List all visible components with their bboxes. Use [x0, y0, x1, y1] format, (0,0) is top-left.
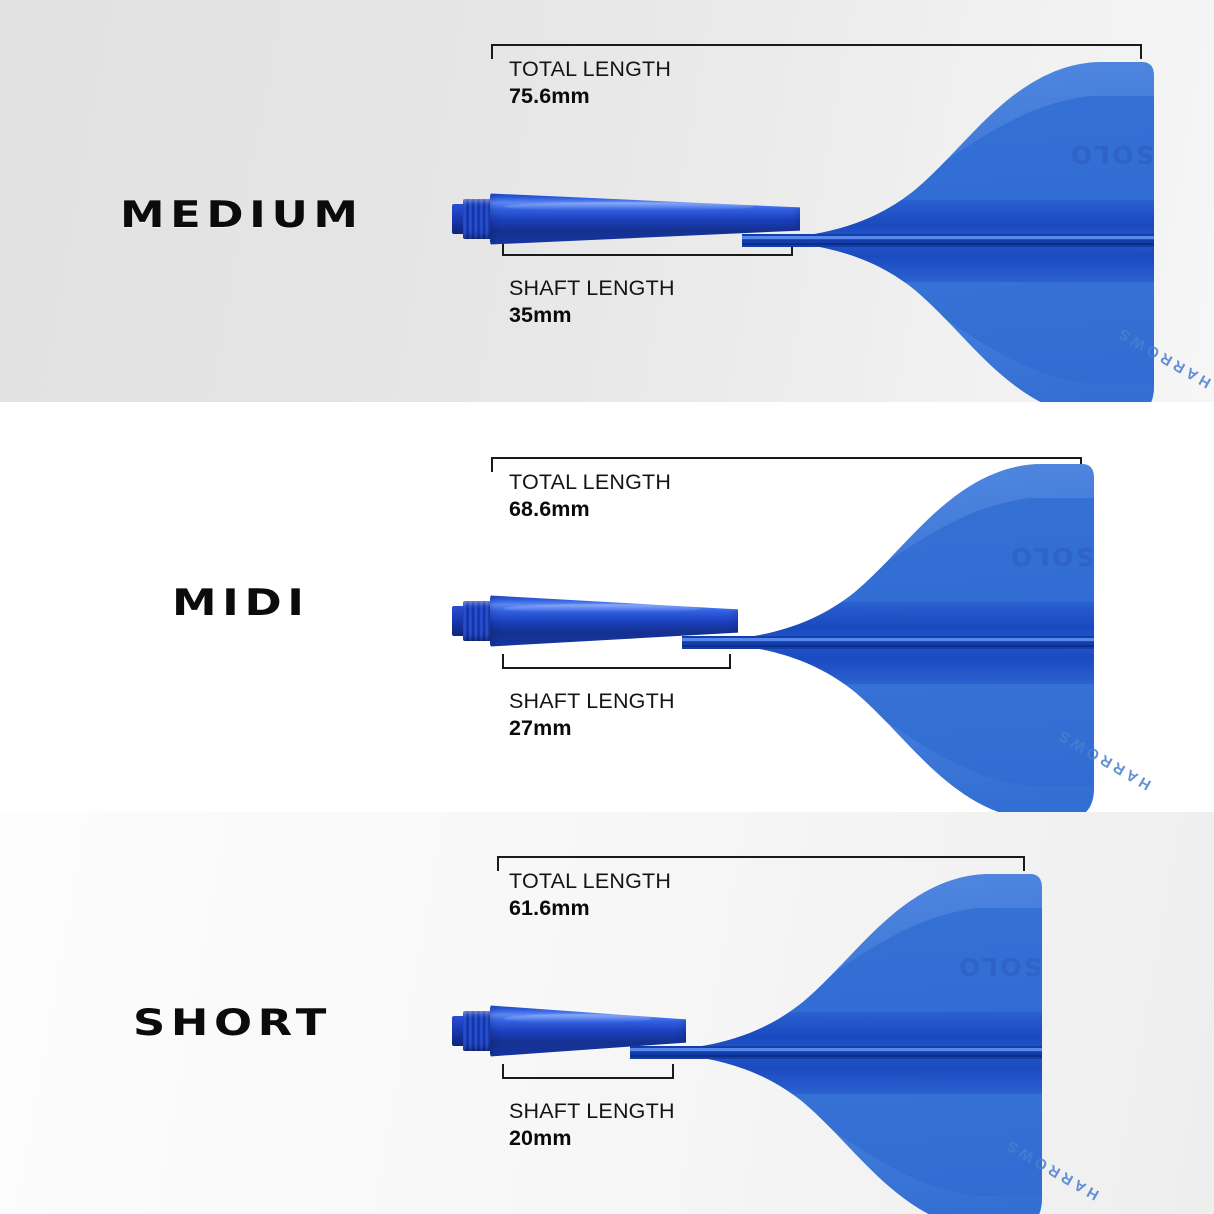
- panel-short: SHORT TOTAL LENGTH 61.6mm SHAFT LENGTH 2…: [0, 812, 1214, 1214]
- shaft-thread-medium: [463, 199, 491, 239]
- dart-assembly-medium: SOLO HARROWS: [450, 120, 1170, 370]
- dart-spec-sheet: MEDIUM TOTAL LENGTH 75.6mm SHAFT LENGTH …: [0, 0, 1214, 1214]
- shaft-highlight-medium: [504, 202, 754, 211]
- total-length-bracket-medium: [491, 44, 1142, 46]
- total-length-bracket-short: [497, 856, 1025, 858]
- panel-medium: MEDIUM TOTAL LENGTH 75.6mm SHAFT LENGTH …: [0, 0, 1214, 402]
- shaft-thread-short: [463, 1011, 491, 1051]
- total-length-value-medium: 75.6mm: [509, 82, 671, 110]
- flight-short: SOLO HARROWS: [638, 862, 1058, 1214]
- dart-assembly-short: SOLO HARROWS: [450, 942, 1110, 1192]
- flight-midi: SOLO HARROWS: [690, 452, 1110, 812]
- shaft-highlight-short: [504, 1014, 652, 1023]
- total-length-caption-medium: TOTAL LENGTH 75.6mm: [509, 56, 671, 110]
- total-length-title-medium: TOTAL LENGTH: [509, 56, 671, 82]
- panel-midi: MIDI TOTAL LENGTH 68.6mm SHAFT LENGTH 27…: [0, 402, 1214, 812]
- size-label-midi: MIDI: [172, 582, 310, 624]
- size-label-short: SHORT: [133, 1002, 332, 1044]
- shaft-thread-midi: [463, 601, 491, 641]
- flight-brand-text-midi: SOLO: [1008, 542, 1094, 571]
- flight-brand-text-medium: SOLO: [1068, 140, 1154, 169]
- total-length-caption-midi: TOTAL LENGTH 68.6mm: [509, 469, 671, 523]
- flight-medium: SOLO HARROWS: [750, 50, 1170, 402]
- dart-assembly-midi: SOLO HARROWS: [450, 532, 1150, 782]
- flight-brand-text-short: SOLO: [956, 952, 1042, 981]
- size-label-medium: MEDIUM: [120, 194, 364, 236]
- total-length-value-midi: 68.6mm: [509, 495, 671, 523]
- total-length-title-midi: TOTAL LENGTH: [509, 469, 671, 495]
- shaft-highlight-midi: [504, 604, 700, 613]
